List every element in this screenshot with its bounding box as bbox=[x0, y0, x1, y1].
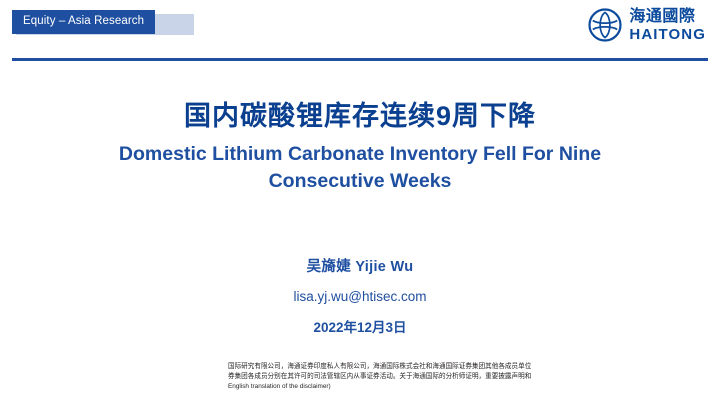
disclaimer-line-1: 国际研究有限公司，海通证券印度私人有限公司，海通国际株式会社和海通国际证券集团其… bbox=[228, 362, 712, 372]
publication-date: 2022年12月3日 bbox=[0, 316, 720, 336]
header-divider bbox=[12, 58, 708, 61]
logo-wordmark: 海通國際 HAITONG bbox=[629, 9, 706, 42]
slide-root: Equity – Asia Research 海通國際 HAITONG 国内碳酸… bbox=[0, 0, 720, 405]
equity-asia-research-tab: Equity – Asia Research bbox=[12, 10, 155, 34]
haitong-circle-logo-icon bbox=[588, 8, 622, 42]
haitong-logo: 海通國際 HAITONG bbox=[588, 8, 706, 42]
page-title-en: Domestic Lithium Carbonate Inventory Fel… bbox=[0, 141, 720, 194]
disclaimer-block: 国际研究有限公司，海通证券印度私人有限公司，海通国际株式会社和海通国际证券集团其… bbox=[228, 362, 712, 392]
disclaimer-line-3: English translation of the disclaimer) bbox=[228, 382, 712, 392]
logo-name-en: HAITONG bbox=[629, 27, 706, 42]
author-email[interactable]: lisa.yj.wu@htisec.com bbox=[0, 289, 720, 304]
title-block: 国内碳酸锂库存连续9周下降 Domestic Lithium Carbonate… bbox=[0, 100, 720, 194]
page-title-cn: 国内碳酸锂库存连续9周下降 bbox=[0, 100, 720, 132]
author-name: 吴旖婕 Yijie Wu bbox=[0, 255, 720, 276]
disclaimer-line-2: 券集团各成员分别在其许可的司法管辖区内从事证券活动。关于海通国际的分析师证明，重… bbox=[228, 372, 712, 382]
logo-name-cn: 海通國際 bbox=[629, 9, 706, 25]
author-block: 吴旖婕 Yijie Wu lisa.yj.wu@htisec.com 2022年… bbox=[0, 255, 720, 336]
